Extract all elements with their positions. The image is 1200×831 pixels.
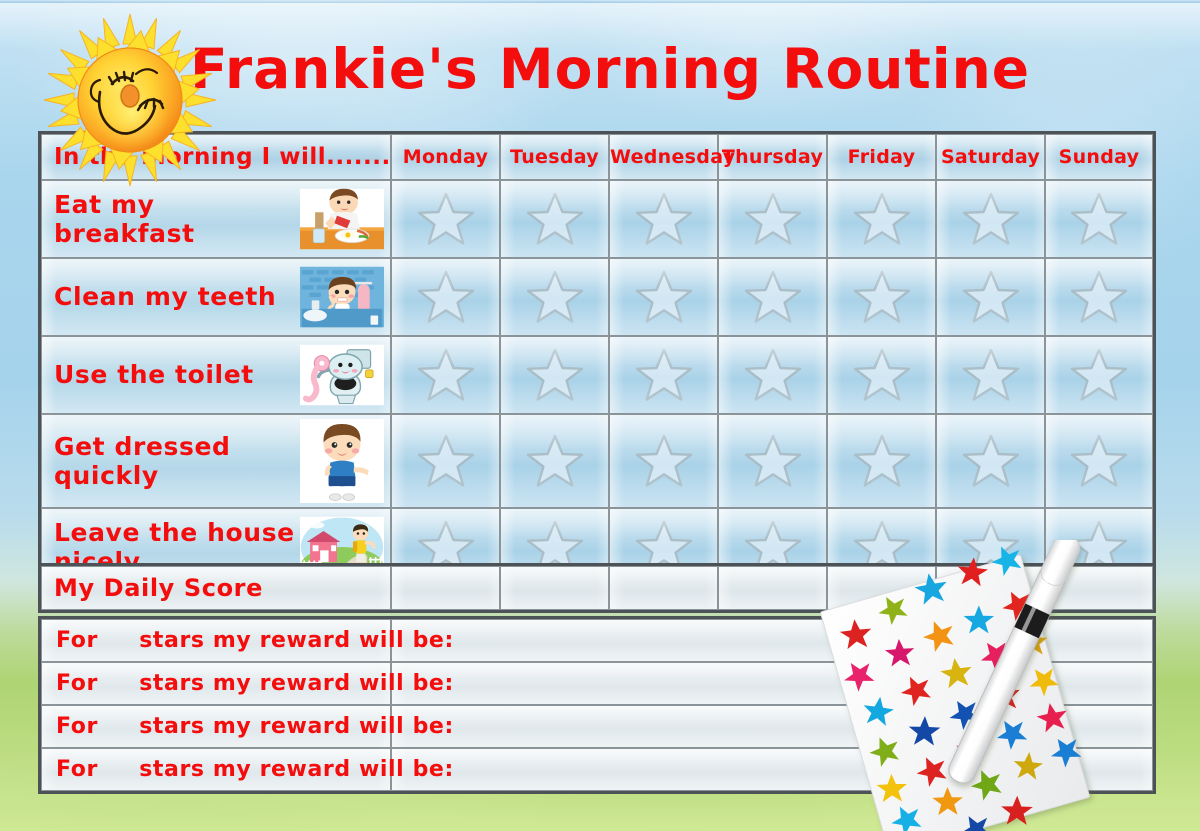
star-outline-icon <box>416 190 476 248</box>
star-outline-icon <box>525 432 585 490</box>
task-row: Get dressed quickly <box>41 414 1153 508</box>
column-header-friday: Friday <box>827 134 936 180</box>
star-checkbox-cell[interactable] <box>609 258 718 336</box>
star-outline-icon <box>961 190 1021 248</box>
star-checkbox-cell[interactable] <box>391 258 500 336</box>
day-label: Wednesday <box>610 146 717 168</box>
star-checkbox-cell[interactable] <box>1045 336 1153 414</box>
task-label: Use the toilet <box>42 360 254 390</box>
star-outline-icon <box>1069 190 1129 248</box>
boy-eating-breakfast-image <box>300 181 390 257</box>
task-label-cell: Clean my teeth <box>41 258 391 336</box>
star-checkbox-cell[interactable] <box>500 258 609 336</box>
star-checkbox-cell[interactable] <box>1045 258 1153 336</box>
task-row: Clean my teeth <box>41 258 1153 336</box>
star-checkbox-cell[interactable] <box>827 258 936 336</box>
reward-label: For stars my reward will be: <box>42 671 390 696</box>
rewards-table: For stars my reward will be:For stars my… <box>38 616 1156 794</box>
task-label: Eat my breakfast <box>42 190 300 249</box>
task-label-cell: Use the toilet <box>41 336 391 414</box>
star-checkbox-cell[interactable] <box>936 336 1045 414</box>
star-checkbox-cell[interactable] <box>1045 414 1153 508</box>
routine-chart-table: In the morning I will.......MondayTuesda… <box>38 131 1156 589</box>
daily-score-input-cell[interactable] <box>1045 566 1153 610</box>
star-checkbox-cell[interactable] <box>391 336 500 414</box>
star-outline-icon <box>416 346 476 404</box>
star-checkbox-cell[interactable] <box>609 414 718 508</box>
star-outline-icon <box>634 268 694 326</box>
reward-label-cell[interactable]: For stars my reward will be: <box>41 705 391 748</box>
task-label: Get dressed quickly <box>42 432 231 491</box>
daily-score-input-cell[interactable] <box>936 566 1045 610</box>
reward-value-cell[interactable] <box>391 619 1153 662</box>
star-checkbox-cell[interactable] <box>718 414 827 508</box>
star-outline-icon <box>525 346 585 404</box>
reward-row: For stars my reward will be: <box>41 748 1153 791</box>
star-outline-icon <box>961 346 1021 404</box>
day-label: Friday <box>828 146 935 168</box>
daily-score-input-cell[interactable] <box>718 566 827 610</box>
star-checkbox-cell[interactable] <box>500 180 609 258</box>
star-outline-icon <box>416 268 476 326</box>
daily-score-input-cell[interactable] <box>827 566 936 610</box>
star-outline-icon <box>852 432 912 490</box>
page-title: Frankie's Morning Routine <box>230 28 990 110</box>
star-checkbox-cell[interactable] <box>827 414 936 508</box>
reward-value-cell[interactable] <box>391 662 1153 705</box>
star-checkbox-cell[interactable] <box>609 180 718 258</box>
star-checkbox-cell[interactable] <box>718 180 827 258</box>
star-outline-icon <box>852 268 912 326</box>
day-label: Thursday <box>719 146 826 168</box>
boy-brushing-teeth-image <box>300 259 390 335</box>
star-checkbox-cell[interactable] <box>936 180 1045 258</box>
reward-label: For stars my reward will be: <box>42 628 390 653</box>
reward-label-cell[interactable]: For stars my reward will be: <box>41 619 391 662</box>
star-outline-icon <box>743 190 803 248</box>
star-checkbox-cell[interactable] <box>609 336 718 414</box>
task-row: Use the toilet <box>41 336 1153 414</box>
star-outline-icon <box>743 432 803 490</box>
star-outline-icon <box>1069 432 1129 490</box>
column-header-wednesday: Wednesday <box>609 134 718 180</box>
star-outline-icon <box>634 346 694 404</box>
star-checkbox-cell[interactable] <box>936 258 1045 336</box>
star-checkbox-cell[interactable] <box>718 336 827 414</box>
star-outline-icon <box>634 190 694 248</box>
daily-score-input-cell[interactable] <box>500 566 609 610</box>
reward-row: For stars my reward will be: <box>41 619 1153 662</box>
star-checkbox-cell[interactable] <box>391 414 500 508</box>
day-label: Tuesday <box>501 146 608 168</box>
star-checkbox-cell[interactable] <box>827 180 936 258</box>
task-label: Clean my teeth <box>42 282 276 312</box>
reward-label: For stars my reward will be: <box>42 757 390 782</box>
star-checkbox-cell[interactable] <box>827 336 936 414</box>
column-header-sunday: Sunday <box>1045 134 1153 180</box>
reward-value-cell[interactable] <box>391 705 1153 748</box>
day-label: Monday <box>392 146 499 168</box>
star-checkbox-cell[interactable] <box>718 258 827 336</box>
star-checkbox-cell[interactable] <box>500 414 609 508</box>
daily-score-input-cell[interactable] <box>391 566 500 610</box>
star-outline-icon <box>852 190 912 248</box>
reward-label: For stars my reward will be: <box>42 714 390 739</box>
star-outline-icon <box>1069 346 1129 404</box>
reward-label-cell[interactable]: For stars my reward will be: <box>41 748 391 791</box>
star-outline-icon <box>634 432 694 490</box>
daily-score-input-cell[interactable] <box>609 566 718 610</box>
star-checkbox-cell[interactable] <box>500 336 609 414</box>
star-outline-icon <box>743 268 803 326</box>
reward-value-cell[interactable] <box>391 748 1153 791</box>
star-checkbox-cell[interactable] <box>391 180 500 258</box>
column-header-tuesday: Tuesday <box>500 134 609 180</box>
day-label: Saturday <box>937 146 1044 168</box>
reward-row: For stars my reward will be: <box>41 705 1153 748</box>
star-outline-icon <box>525 268 585 326</box>
reward-row: For stars my reward will be: <box>41 662 1153 705</box>
daily-score-label: My Daily Score <box>42 574 390 602</box>
star-checkbox-cell[interactable] <box>936 414 1045 508</box>
star-outline-icon <box>961 432 1021 490</box>
day-label: Sunday <box>1046 146 1152 168</box>
star-outline-icon <box>525 190 585 248</box>
star-outline-icon <box>961 268 1021 326</box>
star-checkbox-cell[interactable] <box>1045 180 1153 258</box>
boy-getting-dressed-image <box>300 415 390 507</box>
star-outline-icon <box>416 432 476 490</box>
daily-score-label-cell: My Daily Score <box>41 566 391 610</box>
column-header-saturday: Saturday <box>936 134 1045 180</box>
top-edge-line <box>0 0 1200 3</box>
column-header-monday: Monday <box>391 134 500 180</box>
sun-icon <box>40 8 220 198</box>
star-outline-icon <box>743 346 803 404</box>
column-header-thursday: Thursday <box>718 134 827 180</box>
star-outline-icon <box>852 346 912 404</box>
daily-score-table: My Daily Score <box>38 563 1156 613</box>
cartoon-toilet-image <box>300 337 390 413</box>
star-outline-icon <box>1069 268 1129 326</box>
daily-score-row: My Daily Score <box>41 566 1153 610</box>
task-label-cell: Get dressed quickly <box>41 414 391 508</box>
reward-label-cell[interactable]: For stars my reward will be: <box>41 662 391 705</box>
